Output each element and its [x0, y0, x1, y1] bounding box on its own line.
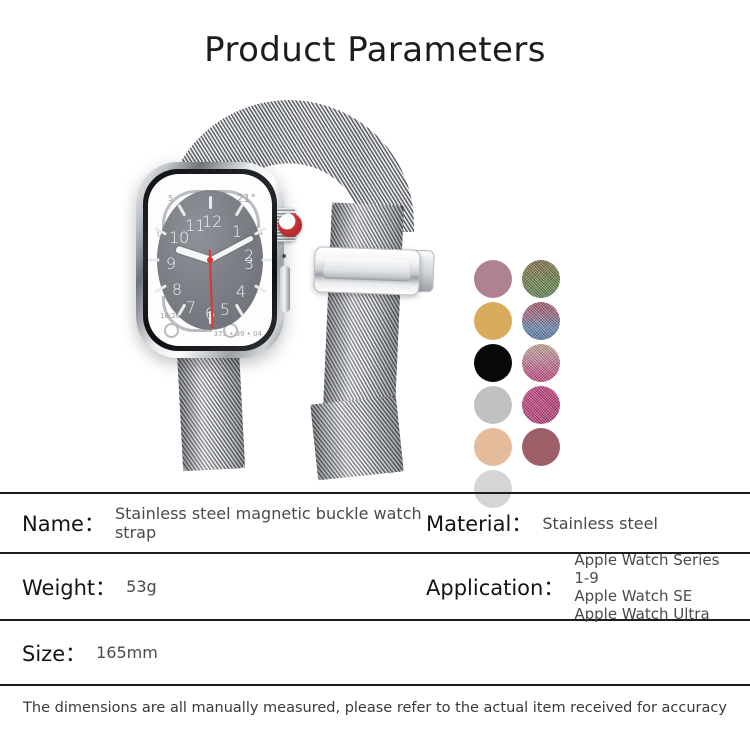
activity-ring-icon: [164, 323, 179, 338]
table-cell-size: Size： 165mm: [22, 638, 426, 668]
page-title: Product Parameters: [0, 30, 750, 70]
swatch-cell[interactable]: [471, 426, 515, 468]
swatch-cell[interactable]: [519, 384, 563, 426]
complication-top-left-value: 5: [168, 194, 173, 203]
clasp-highlight: [323, 256, 412, 281]
dial-numeral-11: 11: [185, 216, 201, 235]
table-row: Size： 165mm: [0, 621, 750, 686]
swatch-cell[interactable]: [519, 426, 563, 468]
swatch-cell[interactable]: [471, 384, 515, 426]
specification-table: Name： Stainless steel magnetic buckle wa…: [0, 492, 750, 686]
value-material: Stainless steel: [542, 514, 658, 533]
table-row: Name： Stainless steel magnetic buckle wa…: [0, 494, 750, 554]
color-swatch-gold-tan[interactable]: [474, 302, 512, 340]
measurement-disclaimer: The dimensions are all manually measured…: [0, 700, 750, 716]
dial-tick: [148, 259, 159, 262]
color-swatch-red-blue-gradient[interactable]: [522, 302, 560, 340]
dial-numeral-5: 5: [217, 300, 233, 319]
table-row: Weight： 53g Application： Apple Watch Ser…: [0, 554, 750, 621]
dial-tick: [253, 284, 266, 293]
swatch-cell[interactable]: [519, 342, 563, 384]
dial-numeral-7: 7: [183, 298, 199, 317]
hand-center-pin: [207, 257, 213, 263]
color-swatch-olive-green-gradient[interactable]: [522, 260, 560, 298]
application-item: Apple Watch Series 1-9: [574, 551, 728, 587]
table-cell-weight: Weight： 53g: [22, 572, 426, 602]
color-swatch-black[interactable]: [474, 344, 512, 382]
color-swatch-rosewood-wine[interactable]: [522, 428, 560, 466]
color-swatch-tan-magenta-gradient[interactable]: [522, 344, 560, 382]
label-size: Size：: [22, 638, 86, 668]
dial-tick: [234, 204, 243, 217]
swatch-cell[interactable]: [471, 342, 515, 384]
dial-tick: [209, 196, 212, 209]
color-swatch-dusty-rose[interactable]: [474, 260, 512, 298]
magnetic-buckle-clasp: [313, 246, 421, 296]
table-cell-application: Application： Apple Watch Series 1-9 Appl…: [426, 551, 728, 623]
color-swatch-light-gray[interactable]: [474, 386, 512, 424]
dial-tick: [177, 204, 186, 217]
watch-bezel: 5 21° UV 24 16:20 375 • 39 • 04: [143, 169, 277, 351]
watch-dial: 12 1 2 3 4 5 6 7 8 9 10 11: [157, 190, 263, 330]
watch-screen: 5 21° UV 24 16:20 375 • 39 • 04: [148, 174, 272, 346]
table-cell-name: Name： Stainless steel magnetic buckle wa…: [22, 504, 426, 542]
value-size: 165mm: [96, 643, 158, 662]
value-weight: 53g: [126, 577, 157, 596]
swatch-cell[interactable]: [471, 258, 515, 300]
dial-numeral-9: 9: [163, 254, 179, 273]
color-swatch-grid: [471, 258, 563, 510]
application-item: Apple Watch Ultra: [574, 605, 728, 623]
dial-numeral-1: 1: [229, 222, 245, 241]
dial-numeral-4: 4: [233, 282, 249, 301]
digital-crown-red-ring-icon: [278, 213, 302, 237]
microphone-dot-icon: [282, 254, 286, 258]
color-swatch-beige-tan[interactable]: [474, 428, 512, 466]
side-button-icon: [280, 266, 290, 312]
apple-watch-case: 5 21° UV 24 16:20 375 • 39 • 04: [136, 162, 284, 358]
label-weight: Weight：: [22, 572, 116, 602]
dial-numeral-8: 8: [169, 280, 185, 299]
label-material: Material：: [426, 508, 532, 538]
watch-with-strap: 5 21° UV 24 16:20 375 • 39 • 04: [118, 100, 448, 468]
strap-right-tail: [310, 396, 403, 481]
dial-tick: [154, 227, 167, 236]
dial-tick: [261, 259, 272, 262]
dial-tick: [234, 303, 243, 316]
strap-shading: [310, 396, 403, 481]
value-name: Stainless steel magnetic buckle watch st…: [115, 504, 426, 542]
value-application-list: Apple Watch Series 1-9 Apple Watch SE Ap…: [574, 551, 728, 623]
dial-tick: [154, 284, 167, 293]
swatch-cell[interactable]: [519, 300, 563, 342]
swatch-cell[interactable]: [519, 258, 563, 300]
label-application: Application：: [426, 572, 564, 602]
swatch-cell[interactable]: [471, 300, 515, 342]
dial-numeral-3: 3: [241, 254, 257, 273]
application-item: Apple Watch SE: [574, 587, 728, 605]
hour-hand: [175, 246, 211, 264]
table-cell-material: Material： Stainless steel: [426, 508, 728, 538]
dial-numeral-10: 10: [169, 228, 185, 247]
product-hero-image: 5 21° UV 24 16:20 375 • 39 • 04: [0, 92, 750, 482]
label-name: Name：: [22, 508, 105, 538]
color-swatch-magenta[interactable]: [522, 386, 560, 424]
product-parameters-page: Product Parameters: [0, 0, 750, 750]
